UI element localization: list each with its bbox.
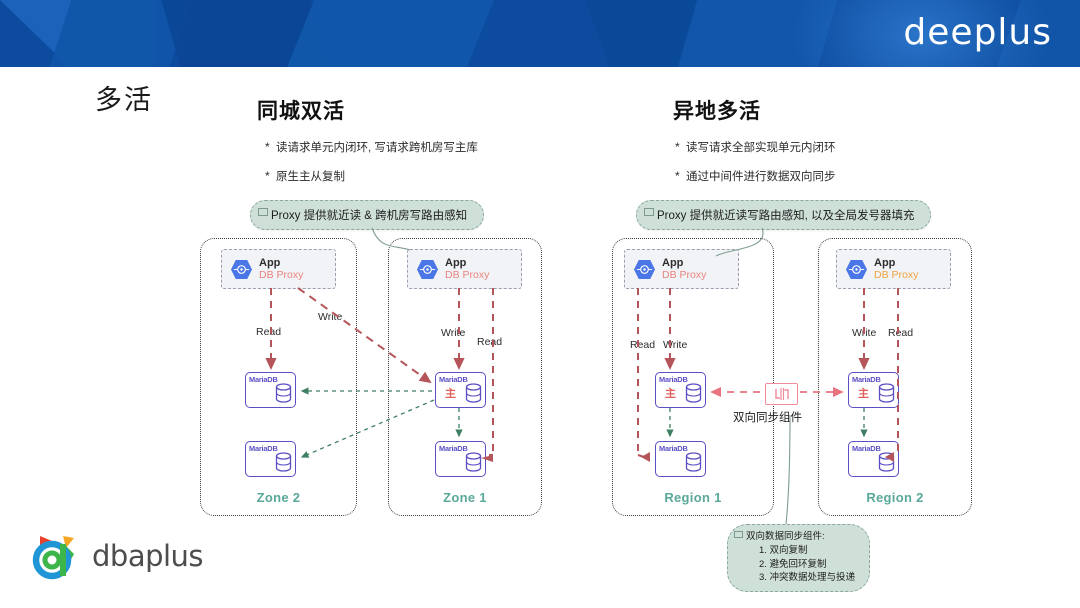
sync-note-title: 双向数据同步组件: — [746, 530, 855, 544]
db-node-zone2-slave-2: MariaDB — [245, 441, 296, 477]
unit-label: Zone 1 — [389, 490, 541, 505]
db-cylinder-icon — [275, 383, 292, 409]
left-proxy-callout: Proxy 提供就近读 & 跨机房写路由感知 — [250, 200, 484, 230]
bullet-item: 通过中间件进行数据双向同步 — [675, 168, 1005, 184]
app-node-texts: App DB Proxy — [445, 257, 489, 282]
bullet-item: 原生主从复制 — [265, 168, 545, 184]
db-cylinder-icon — [275, 452, 292, 478]
sync-note-item: 2. 避免回环复制 — [746, 558, 855, 572]
app-hexagon-icon — [845, 259, 868, 280]
db-name: MariaDB — [439, 375, 468, 384]
sync-component-label: 双向同步组件 — [733, 409, 802, 425]
left-column-title: 同城双活 — [257, 95, 545, 125]
db-node-region1-master: MariaDB 主 — [655, 372, 706, 408]
edge-label-read: Read — [888, 327, 913, 339]
db-master-badge: 主 — [445, 385, 456, 401]
app-hexagon-icon — [416, 259, 439, 280]
app-node-region2: App DB Proxy — [836, 249, 951, 289]
sync-bars — [774, 387, 790, 406]
edge-label-write: Write — [318, 311, 342, 323]
app-node-texts: App DB Proxy — [662, 257, 706, 282]
right-column-title: 异地多活 — [673, 95, 1005, 125]
app-title: App — [662, 257, 706, 270]
header-banner: deeplus — [0, 0, 1080, 67]
db-cylinder-icon — [878, 383, 895, 409]
sync-component-icon — [765, 383, 798, 405]
edge-label-write: Write — [852, 327, 876, 339]
bullet-item: 读写请求全部实现单元内闭环 — [675, 139, 1005, 155]
app-node-texts: App DB Proxy — [874, 257, 918, 282]
edge-label-read: Read — [477, 336, 502, 348]
db-cylinder-icon — [685, 383, 702, 409]
right-column: 异地多活 读写请求全部实现单元内闭环 通过中间件进行数据双向同步 — [605, 95, 1005, 197]
db-node-zone1-slave: MariaDB — [435, 441, 486, 477]
bullet-item: 读请求单元内闭环, 写请求跨机房写主库 — [265, 139, 545, 155]
edge-label-write: Write — [663, 339, 687, 351]
dbaplus-logo-mark — [30, 530, 82, 582]
right-proxy-callout: Proxy 提供就近读写路由感知, 以及全局发号器填充 — [636, 200, 931, 230]
db-cylinder-icon — [878, 452, 895, 478]
sync-detail-callout: 双向数据同步组件: 1. 双向复制 2. 避免回环复制 3. 冲突数据处理与投递 — [727, 524, 870, 592]
left-column-bullets: 读请求单元内闭环, 写请求跨机房写主库 原生主从复制 — [265, 139, 545, 184]
db-node-region2-slave: MariaDB — [848, 441, 899, 477]
app-subtitle: DB Proxy — [445, 269, 489, 281]
page-title: 多活 — [95, 78, 153, 117]
db-node-zone2-slave-1: MariaDB — [245, 372, 296, 408]
app-node-zone1: App DB Proxy — [407, 249, 522, 289]
db-node-zone1-master: MariaDB 主 — [435, 372, 486, 408]
dbaplus-footer-logo: dbaplus — [30, 530, 203, 582]
db-name: MariaDB — [249, 375, 278, 384]
edge-label-write: Write — [441, 327, 465, 339]
db-master-badge: 主 — [858, 385, 869, 401]
app-hexagon-icon — [633, 259, 656, 280]
unit-label: Region 2 — [819, 490, 971, 505]
dbaplus-logo-text: dbaplus — [92, 539, 203, 573]
db-name: MariaDB — [852, 444, 881, 453]
app-subtitle: DB Proxy — [259, 269, 303, 281]
db-cylinder-icon — [465, 452, 482, 478]
slide-root: deeplus 多活 同城双活 读请求单元内闭环, 写请求跨机房写主库 原生主从… — [0, 0, 1080, 608]
unit-label: Region 1 — [613, 490, 773, 505]
right-column-bullets: 读写请求全部实现单元内闭环 通过中间件进行数据双向同步 — [675, 139, 1005, 184]
app-subtitle: DB Proxy — [874, 269, 918, 281]
sync-note-item: 3. 冲突数据处理与投递 — [746, 571, 855, 585]
edge-label-read: Read — [256, 326, 281, 338]
sync-note-item: 1. 双向复制 — [746, 544, 855, 558]
unit-label: Zone 2 — [201, 490, 356, 505]
app-title: App — [259, 257, 303, 270]
deeplus-logo: deeplus — [903, 12, 1052, 53]
app-title: App — [445, 257, 489, 270]
app-node-region1: App DB Proxy — [624, 249, 739, 289]
db-node-region2-master: MariaDB 主 — [848, 372, 899, 408]
db-node-region1-slave: MariaDB — [655, 441, 706, 477]
left-column: 同城双活 读请求单元内闭环, 写请求跨机房写主库 原生主从复制 — [195, 95, 545, 197]
db-cylinder-icon — [465, 383, 482, 409]
edge-label-read: Read — [630, 339, 655, 351]
app-node-zone2: App DB Proxy — [221, 249, 336, 289]
app-subtitle: DB Proxy — [662, 269, 706, 281]
db-cylinder-icon — [685, 452, 702, 478]
app-hexagon-icon — [230, 259, 253, 280]
db-name: MariaDB — [659, 444, 688, 453]
db-master-badge: 主 — [665, 385, 676, 401]
app-title: App — [874, 257, 918, 270]
app-node-texts: App DB Proxy — [259, 257, 303, 282]
db-name: MariaDB — [659, 375, 688, 384]
db-name: MariaDB — [852, 375, 881, 384]
db-name: MariaDB — [439, 444, 468, 453]
db-name: MariaDB — [249, 444, 278, 453]
